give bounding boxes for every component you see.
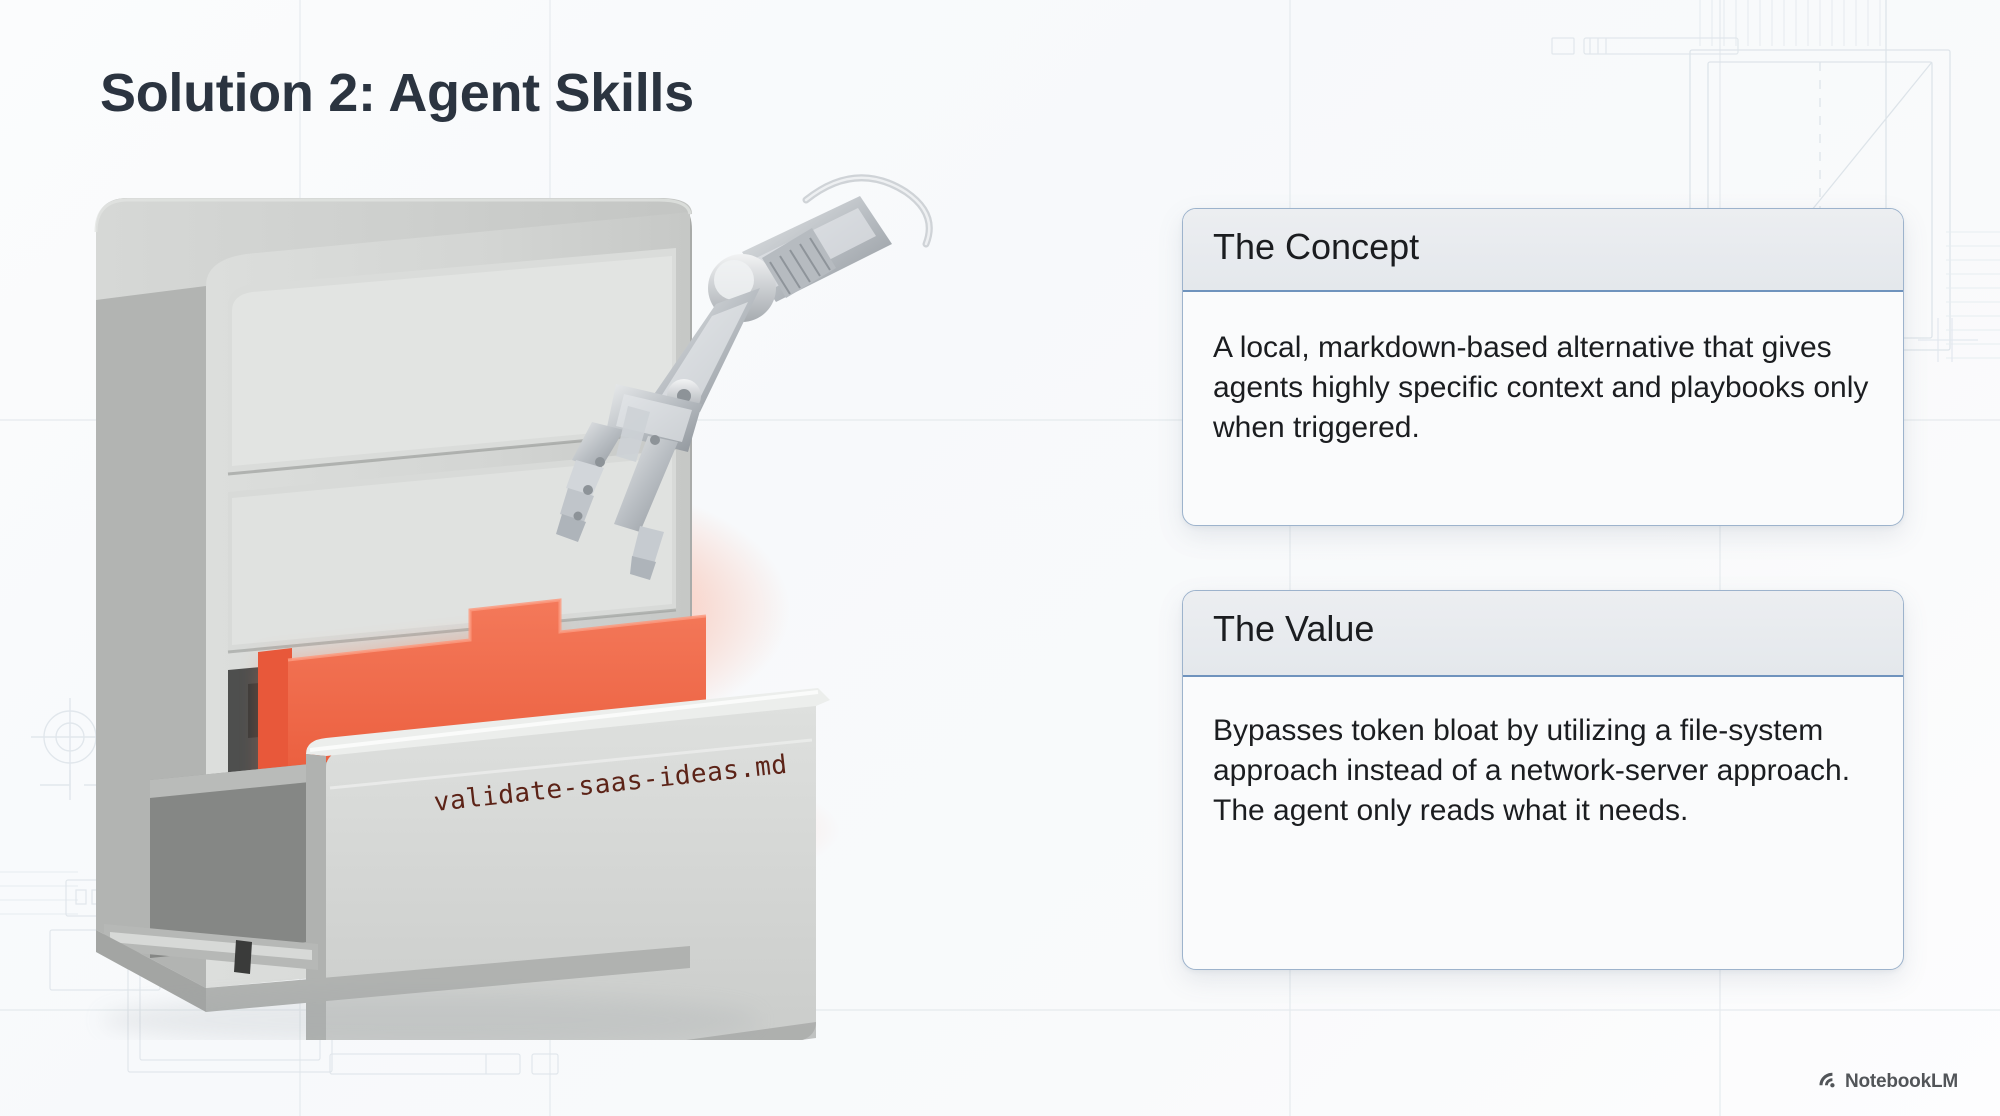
slide-root: Solution 2: Agent Skills [0, 0, 2000, 1116]
page-title: Solution 2: Agent Skills [100, 62, 694, 124]
notebooklm-logo-icon [1817, 1069, 1837, 1094]
card-title-concept: The Concept [1213, 229, 1873, 265]
card-the-value: The Value Bypasses token bloat by utiliz… [1182, 590, 1904, 970]
card-the-concept: The Concept A local, markdown-based alte… [1182, 208, 1904, 526]
card-body-value: Bypasses token bloat by utilizing a file… [1183, 677, 1903, 831]
card-header-concept: The Concept [1183, 209, 1903, 292]
notebooklm-label: NotebookLM [1845, 1071, 1958, 1093]
card-title-value: The Value [1213, 611, 1873, 647]
card-text-concept: A local, markdown-based alternative that… [1213, 328, 1869, 448]
notebooklm-watermark: NotebookLM [1817, 1069, 1958, 1094]
cabinet-illustration: validate-saas-ideas.md [0, 140, 960, 1040]
card-text-value: Bypasses token bloat by utilizing a file… [1213, 711, 1869, 831]
card-header-value: The Value [1183, 591, 1903, 677]
card-body-concept: A local, markdown-based alternative that… [1183, 292, 1903, 448]
